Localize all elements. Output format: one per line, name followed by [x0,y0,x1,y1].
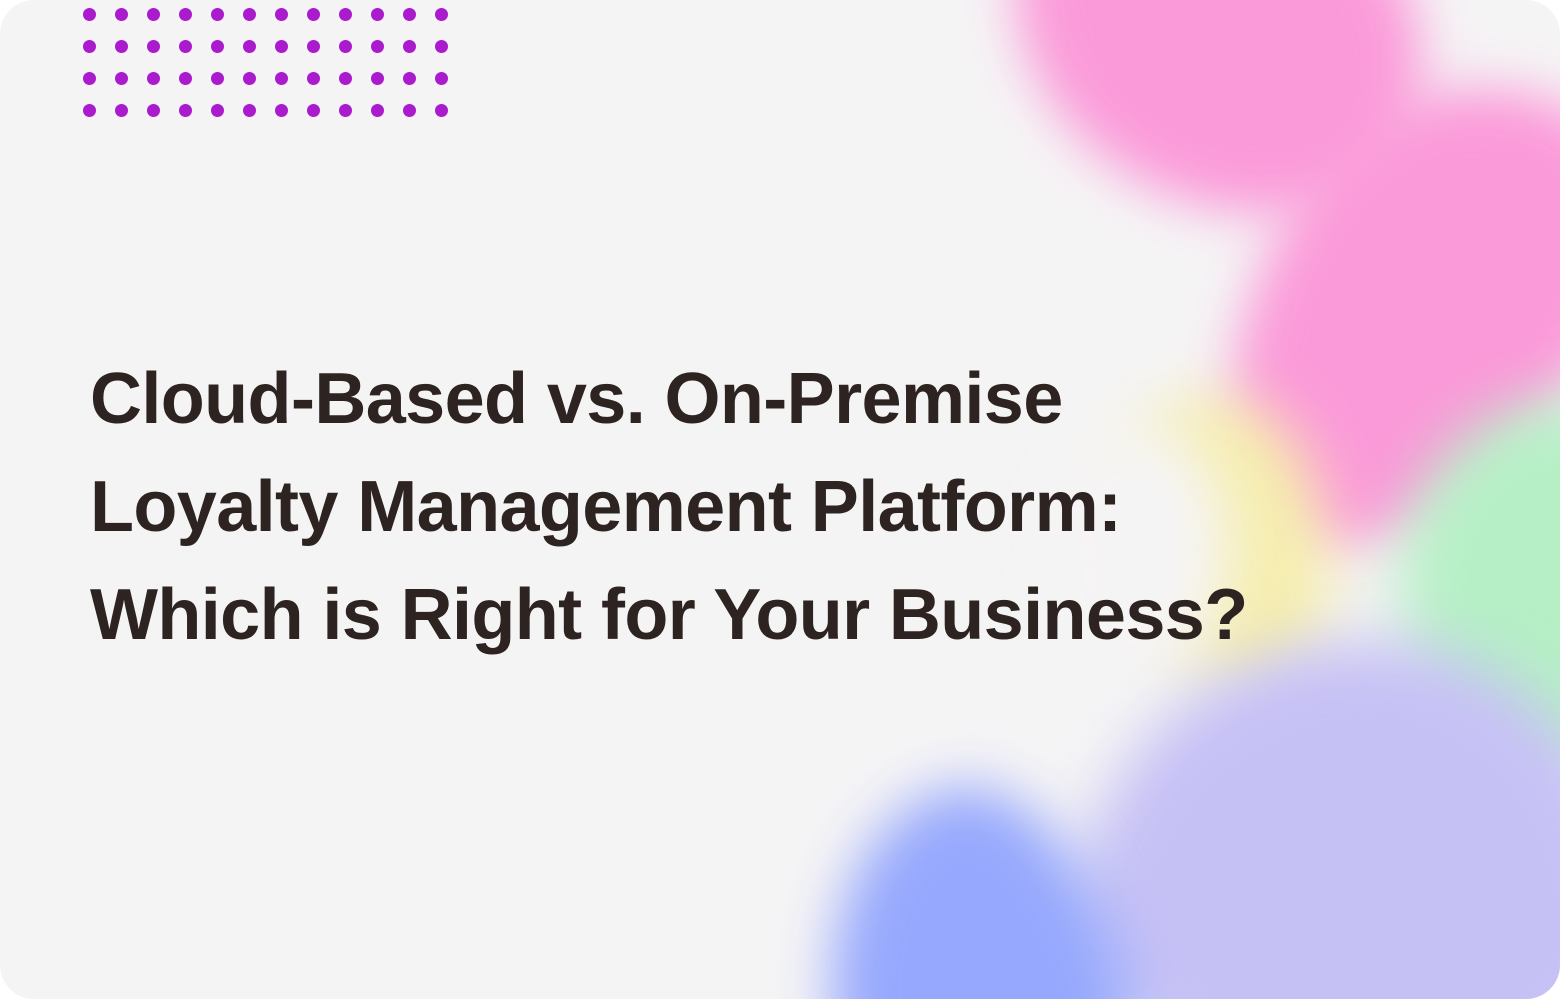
blue-petal-shape [776,756,1164,999]
dot-grid-pattern-icon [83,0,459,128]
page-title-line-3: Which is Right for Your Business? [90,561,1340,669]
page-title: Cloud-Based vs. On-Premise Loyalty Manag… [90,345,1340,669]
pink-petal-top-shape [954,0,1476,269]
page-title-line-1: Cloud-Based vs. On-Premise [90,345,1340,453]
green-blob-shape [1400,400,1560,780]
article-header-card: Cloud-Based vs. On-Premise Loyalty Manag… [0,0,1560,999]
page-title-line-2: Loyalty Management Platform: [90,453,1340,561]
